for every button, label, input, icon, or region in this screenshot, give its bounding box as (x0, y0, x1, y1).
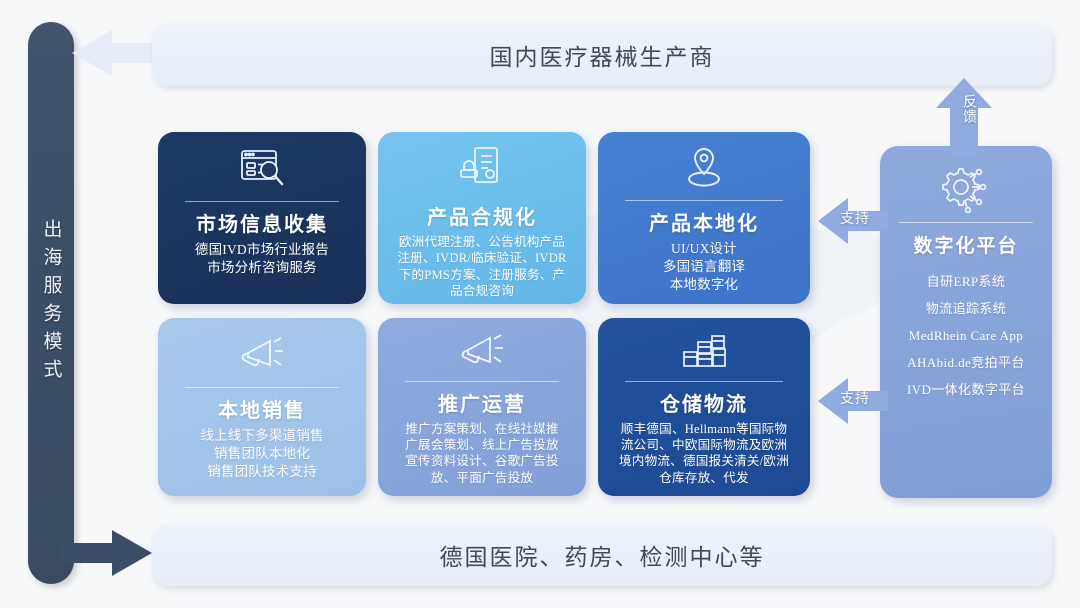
top-bar-label: 国内医疗器械生产商 (490, 38, 715, 72)
panel-divider (899, 222, 1033, 223)
desc-line: 下的PMS方案、注册服务、产 (397, 267, 566, 283)
desc-line: 市场分析咨询服务 (195, 259, 329, 277)
sidebar-service-mode[interactable]: 出海服务模式 (28, 22, 74, 584)
arrow-support-upper: 支持 (818, 198, 888, 244)
arrow-feedback-label: 反馈 (950, 94, 978, 124)
arrow-support-lower: 支持 (818, 378, 888, 424)
card-title: 本地销售 (218, 394, 306, 423)
card-product-localization[interactable]: 产品本地化 UI/UX设计 多国语言翻译 本地数字化 (598, 132, 810, 304)
card-warehouse-logistics[interactable]: 仓储物流 顺丰德国、Hellmann等国际物 流公司、中欧国际物流及欧洲 境内物… (598, 318, 810, 496)
arrow-sidebar-to-customers (60, 530, 152, 576)
platform-item[interactable]: 物流追踪系统 (926, 302, 1006, 315)
bottom-bar-label: 德国医院、药房、检测中心等 (440, 538, 765, 572)
top-bar-manufacturers[interactable]: 国内医疗器械生产商 (152, 24, 1052, 86)
desc-line: 流公司、中欧国际物流及欧洲 (619, 437, 789, 453)
desc-line: 欧洲代理注册、公告机构产品 (397, 234, 566, 250)
desc-line: 推广方案策划、在线社媒推 (405, 421, 559, 437)
desc-line: 广展会策划、线上广告投放 (405, 437, 559, 453)
location-pin-icon (679, 144, 729, 195)
card-description: 德国IVD市场行业报告 市场分析咨询服务 (195, 241, 329, 277)
card-product-compliance[interactable]: 产品合规化 欧洲代理注册、公告机构产品 注册、IVDR/临床验证、IVDR 下的… (378, 132, 586, 304)
platform-item[interactable]: AHAbid.de竞拍平台 (907, 356, 1025, 369)
diagram-canvas: 出海服务模式 国内医疗器械生产商 德国医院、药房、检测中心等 (0, 0, 1080, 608)
desc-line: 宣传资料设计、谷歌广告投 (405, 453, 559, 469)
document-stamp-icon (457, 144, 507, 190)
desc-line: 品合规咨询 (397, 283, 566, 299)
card-marketing-operations[interactable]: 推广运营 推广方案策划、在线社媒推 广展会策划、线上广告投放 宣传资料设计、谷歌… (378, 318, 586, 496)
card-divider (185, 387, 339, 388)
arrow-support-label: 支持 (840, 208, 888, 228)
arrow-manufacturers-to-sidebar (72, 30, 164, 76)
desc-line: 顺丰德国、Hellmann等国际物 (619, 421, 789, 437)
card-description: 顺丰德国、Hellmann等国际物 流公司、中欧国际物流及欧洲 境内物流、德国报… (619, 421, 789, 486)
platform-item[interactable]: MedRhein Care App (909, 329, 1023, 342)
arrow-shaft (60, 543, 118, 563)
card-divider (625, 381, 782, 382)
arrow-head (112, 530, 152, 576)
desc-line: 德国IVD市场行业报告 (195, 241, 329, 259)
desc-line: 放、平面广告投放 (405, 470, 559, 486)
card-title: 产品本地化 (649, 207, 759, 236)
platform-item[interactable]: IVD一体化数字平台 (907, 383, 1025, 396)
megaphone-icon (456, 330, 508, 376)
desc-line: 注册、IVDR/临床验证、IVDR (397, 250, 566, 266)
card-description: 推广方案策划、在线社媒推 广展会策划、线上广告投放 宣传资料设计、谷歌广告投 放… (405, 421, 559, 486)
megaphone-icon (236, 330, 288, 382)
arrow-support-label: 支持 (840, 388, 888, 408)
desc-line: 境内物流、德国报关清关/欧洲 (619, 453, 789, 469)
card-title: 产品合规化 (427, 201, 537, 230)
card-description: 线上线下多渠道销售 销售团队本地化 销售团队技术支持 (200, 427, 323, 481)
bottom-bar-customers[interactable]: 德国医院、药房、检测中心等 (152, 524, 1052, 586)
market-research-icon (235, 144, 289, 196)
desc-line: 销售团队技术支持 (200, 463, 323, 481)
arrow-head (72, 30, 112, 76)
card-description: UI/UX设计 多国语言翻译 本地数字化 (663, 240, 745, 294)
card-divider (405, 381, 559, 382)
warehouse-boxes-icon (678, 330, 730, 376)
desc-line: 多国语言翻译 (663, 258, 745, 276)
platform-item[interactable]: 自研ERP系统 (927, 275, 1006, 288)
card-title: 推广运营 (438, 388, 526, 417)
desc-line: 本地数字化 (663, 276, 745, 294)
arrow-feedback: 反馈 (936, 78, 992, 156)
panel-digital-platform[interactable]: 数字化平台 自研ERP系统 物流追踪系统 MedRhein Care App A… (880, 146, 1052, 498)
panel-title: 数字化平台 (913, 231, 1018, 258)
card-divider (185, 201, 339, 202)
desc-line: 销售团队本地化 (200, 445, 323, 463)
card-title: 仓储物流 (660, 388, 748, 417)
gear-circuit-icon (937, 160, 995, 218)
desc-line: 线上线下多渠道销售 (200, 427, 323, 445)
card-description: 欧洲代理注册、公告机构产品 注册、IVDR/临床验证、IVDR 下的PMS方案、… (397, 234, 566, 299)
card-market-research[interactable]: 市场信息收集 德国IVD市场行业报告 市场分析咨询服务 (158, 132, 366, 304)
sidebar-label: 出海服务模式 (38, 219, 65, 387)
card-local-sales[interactable]: 本地销售 线上线下多渠道销售 销售团队本地化 销售团队技术支持 (158, 318, 366, 496)
card-title: 市场信息收集 (196, 208, 328, 237)
card-divider (625, 200, 782, 201)
desc-line: 仓库存放、代发 (619, 470, 789, 486)
desc-line: UI/UX设计 (663, 240, 745, 258)
